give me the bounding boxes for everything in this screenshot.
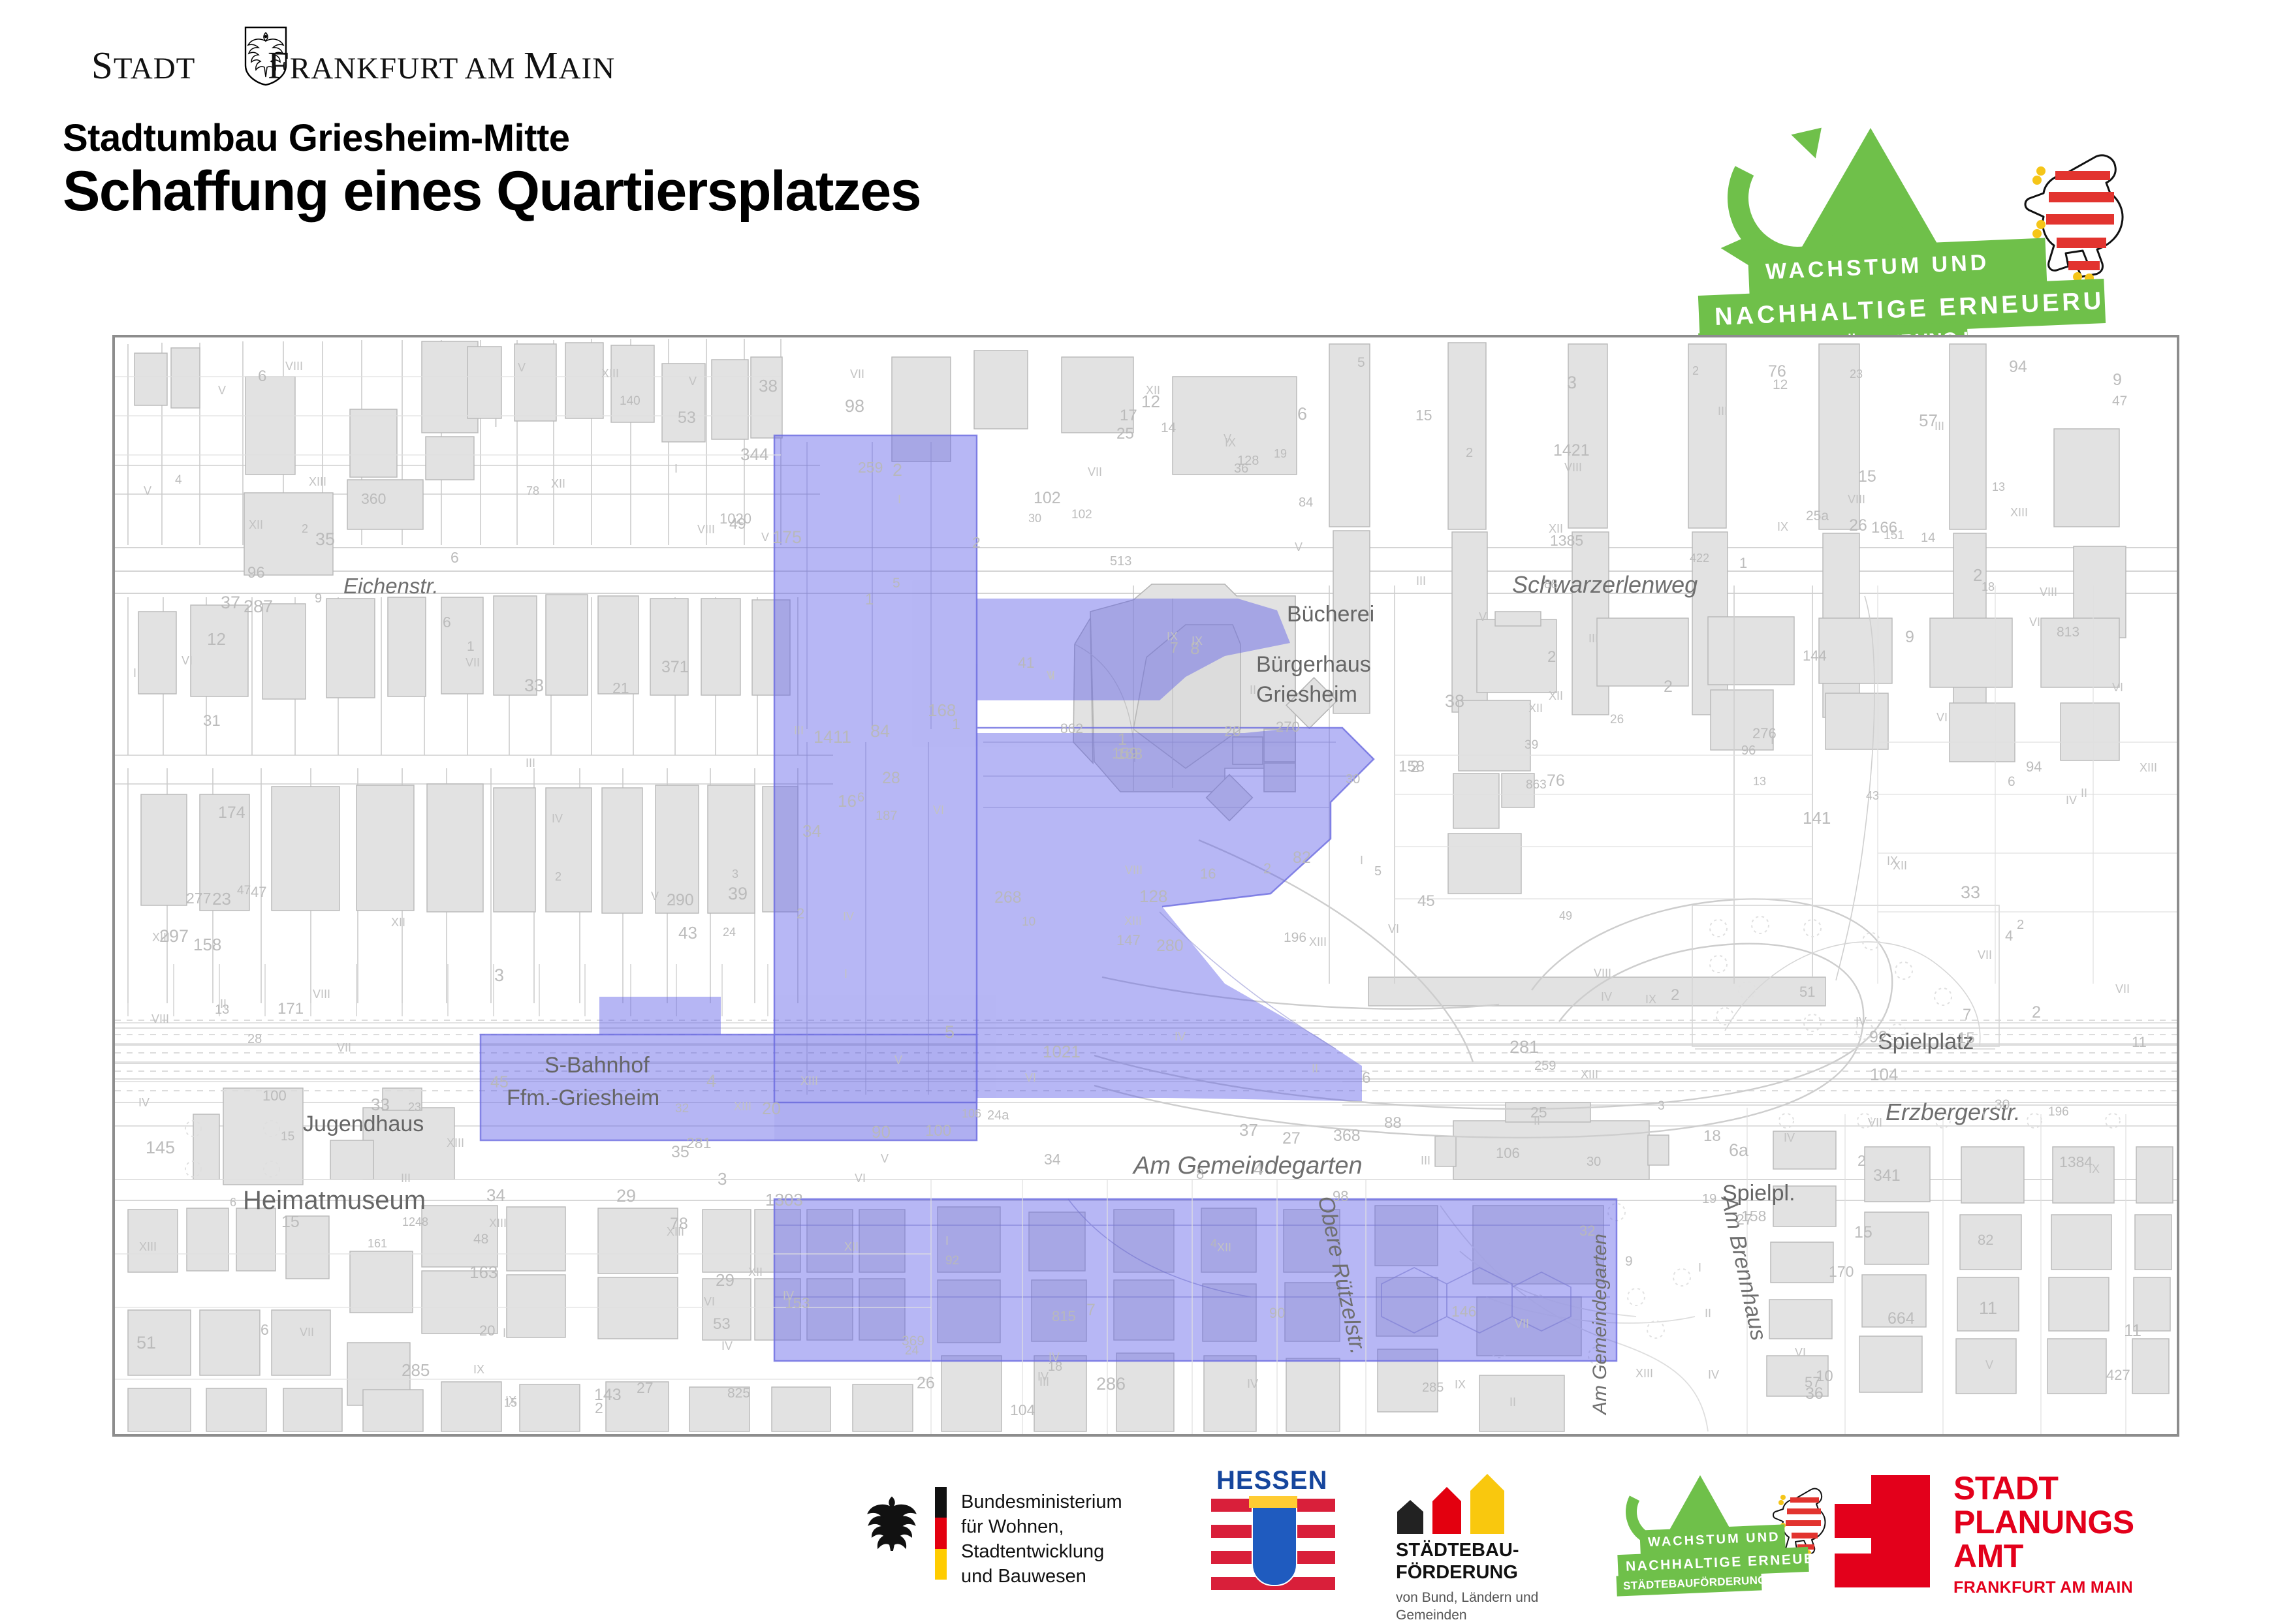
bmwsb-logo: Bundesministerium für Wohnen, Stadtentwi… <box>862 1475 1175 1586</box>
house-gold-icon <box>1470 1474 1504 1534</box>
stadtplanungsamt-logo: STADT PLANUNGS AMT FRANKFURT AM MAIN <box>1835 1473 2200 1597</box>
bmwsb-line3: und Bauwesen <box>961 1564 1175 1589</box>
hessen-state-logo: HESSEN <box>1211 1466 1342 1593</box>
building-footprints-upper-left <box>134 341 798 913</box>
project-subtitle: Stadtumbau Griesheim-Mitte <box>63 116 570 160</box>
german-flag-bar-icon <box>935 1487 947 1580</box>
spa-line3: AMT <box>1953 1539 2134 1573</box>
house-red-icon <box>1432 1487 1461 1534</box>
spa-wordmark: STADT PLANUNGS AMT <box>1953 1471 2134 1573</box>
bmwsb-line1: Bundesministerium <box>961 1490 1175 1514</box>
stbf-title: STÄDTEBAU- FÖRDERUNG <box>1396 1539 1519 1584</box>
funding-logo-bar: Bundesministerium für Wohnen, Stadtentwi… <box>0 1456 2291 1619</box>
page-title: Schaffung eines Quartiersplatzes <box>63 159 921 224</box>
staedtebaufoerderung-logo: STÄDTEBAU- FÖRDERUNG von Bund, Ländern u… <box>1391 1474 1587 1591</box>
bundesadler-icon <box>862 1491 922 1551</box>
spa-subtitle: FRANKFURT AM MAIN <box>1953 1578 2133 1597</box>
three-houses-icon <box>1397 1474 1515 1534</box>
stbf-sub1: von Bund, Ländern und <box>1396 1589 1538 1606</box>
stadt-frankfurt-logo: STADT FRANKFURT AM MAIN <box>91 34 509 80</box>
bmwsb-line2: für Wohnen, Stadtentwicklung <box>961 1514 1175 1564</box>
spa-line1: STADT <box>1953 1471 2134 1505</box>
stbf-line1: STÄDTEBAU- <box>1396 1539 1519 1561</box>
cadastral-map[interactable]: Eichenstr. Schwarzerlenweg Am Gemeindega… <box>112 335 2179 1437</box>
stadt-frankfurt-logo-text: STADT FRANKFURT AM MAIN <box>91 43 615 88</box>
stbf-sub2: Gemeinden <box>1396 1606 1538 1624</box>
map-vector-layer <box>115 337 2177 1434</box>
house-black-icon <box>1397 1500 1423 1534</box>
stadtplanungsamt-mark-icon <box>1835 1475 1930 1587</box>
hessen-shield-icon <box>1252 1503 1297 1586</box>
stbf-line2: FÖRDERUNG <box>1396 1561 1519 1584</box>
bmwsb-text: Bundesministerium für Wohnen, Stadtentwi… <box>961 1490 1175 1589</box>
hessen-label: HESSEN <box>1216 1466 1328 1495</box>
building-footprints-lower-right <box>1767 1131 2173 1396</box>
hessen-crown-icon <box>1249 1496 1297 1508</box>
page-header: STADT FRANKFURT AM MAIN Stadtumbau Gries… <box>0 0 2291 326</box>
spa-line2: PLANUNGS <box>1953 1505 2134 1539</box>
